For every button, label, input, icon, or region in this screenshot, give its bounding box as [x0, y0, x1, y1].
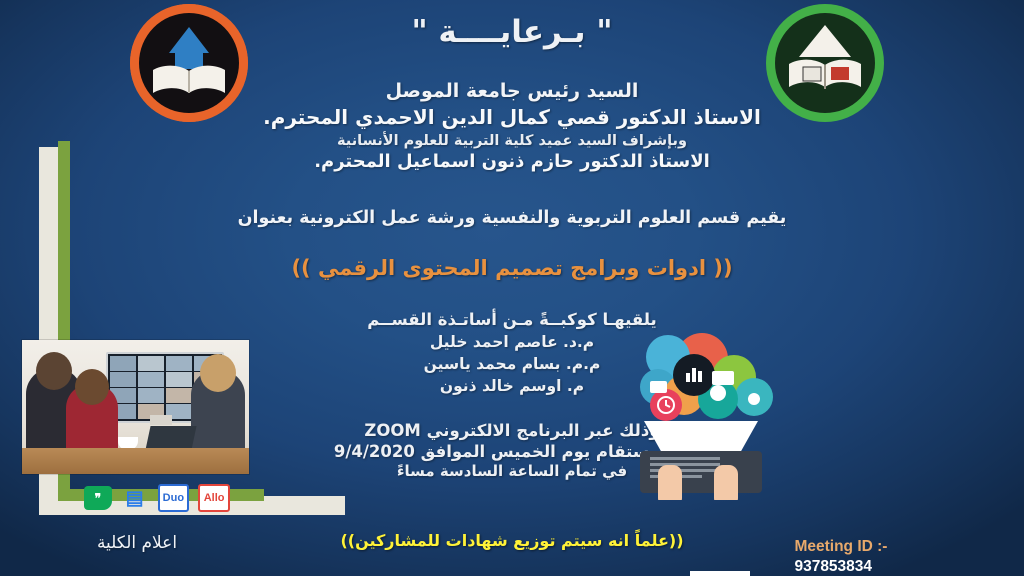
university-of-mosul-logo	[130, 4, 248, 122]
duo-app-icon[interactable]: Duo	[158, 484, 190, 512]
dean-name-line: الاستاذ الدكتور حازم ذنون اسماعيل المحتر…	[236, 151, 788, 172]
app-icons-row: Allo Duo ▤ ❞	[84, 485, 230, 511]
messages-app-icon[interactable]: ▤	[121, 486, 149, 510]
hangouts-app-icon[interactable]: ❞	[84, 486, 112, 510]
poster-canvas: " بـرعايــــة " السيد رئيس جامعة الموصل …	[0, 0, 1024, 576]
event-date: 9/4/2020	[334, 442, 415, 461]
president-name-line: الاستاذ الدكتور قصي كمال الدين الاحمدي ا…	[236, 105, 788, 129]
digital-content-illustration	[606, 325, 796, 500]
workshop-title: (( ادوات وبرامج تصميم المحتوى الرقمي ))	[236, 256, 788, 280]
allo-app-icon[interactable]: Allo	[198, 484, 230, 512]
college-media-caption: اعلام الكلية	[22, 533, 252, 553]
meeting-id-value[interactable]: 937853834	[794, 558, 872, 575]
platform-name: ZOOM	[364, 421, 420, 440]
video-conference-photo	[22, 340, 249, 474]
dean-supervision-line: وبإشراف السيد عميد كلية التربية للعلوم ا…	[236, 133, 788, 149]
meeting-id-row: Meeting ID :- 937853834	[760, 518, 891, 576]
president-title-line: السيد رئيس جامعة الموصل	[236, 80, 788, 102]
meeting-credentials: link ☞ Meeting ID :- 937853834 Password …	[690, 518, 891, 576]
link-icon[interactable]: link ☞	[690, 571, 750, 576]
meeting-id-label: Meeting ID :-	[794, 538, 887, 555]
department-announcement: يقيم قسم العلوم التربوية والنفسية ورشة ع…	[236, 208, 788, 228]
headline-patronage: " بـرعايــــة "	[236, 14, 788, 50]
